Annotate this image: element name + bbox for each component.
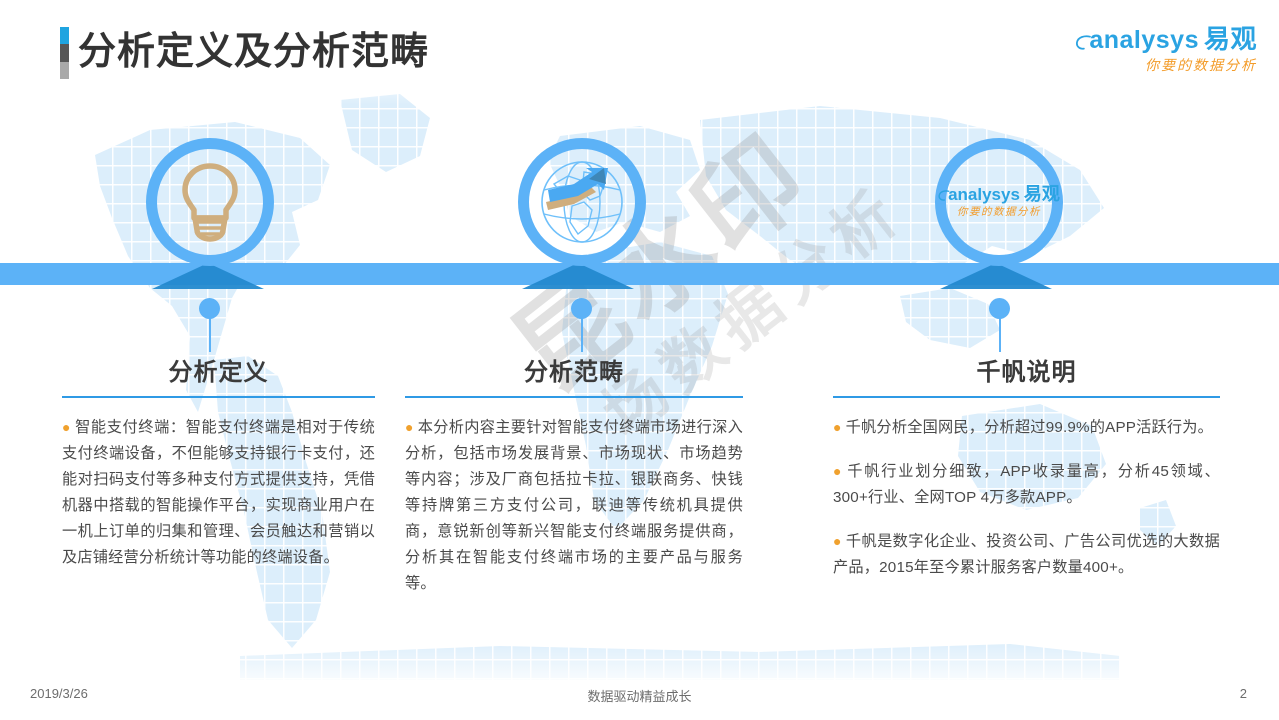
brand-name: analysys	[1089, 26, 1199, 54]
slide-root: 昆水印 场数据分析 分析定义及分析范畴 analysys易观 你要的数据分析	[0, 0, 1279, 720]
column-1-body: ●智能支付终端：智能支付终端是相对于传统支付终端设备，不但能够支持银行卡支付，还…	[62, 415, 375, 571]
column-2: 分析范畴 ●本分析内容主要针对智能支付终端市场进行深入分析，包括市场发展背景、市…	[405, 352, 743, 597]
column-1-paragraph-1: ●智能支付终端：智能支付终端是相对于传统支付终端设备，不但能够支持银行卡支付，还…	[62, 415, 375, 571]
brand-name-cn: 易观	[1204, 24, 1257, 54]
column-3: 千帆说明 ●千帆分析全国网民，分析超过99.9%的APP活跃行为。 ●千帆行业划…	[833, 352, 1220, 581]
bullet-icon: ●	[833, 463, 843, 479]
node-3-brand-tagline: 你要的数据分析	[938, 207, 1060, 218]
column-3-paragraph-1: ●千帆分析全国网民，分析超过99.9%的APP活跃行为。	[833, 415, 1220, 441]
column-3-rule	[833, 396, 1220, 398]
column-3-paragraph-2: ●千帆行业划分细致，APP收录量高，分析45领域、300+行业、全网TOP 4万…	[833, 459, 1220, 511]
bullet-icon: ●	[405, 419, 414, 435]
column-2-title: 分析范畴	[405, 352, 743, 387]
footer-page-number: 2	[1240, 686, 1247, 701]
column-3-paragraph-1-text: 千帆分析全国网民，分析超过99.9%的APP活跃行为。	[846, 419, 1213, 436]
column-1-paragraph-1-text: 智能支付终端：智能支付终端是相对于传统支付终端设备，不但能够支持银行卡支付，还能…	[62, 419, 375, 566]
node-2-ring	[518, 138, 646, 266]
node-3-brand-name: analysys	[948, 185, 1020, 204]
column-3-paragraph-3-text: 千帆是数字化企业、投资公司、广告公司优选的大数据产品，2015年至今累计服务客户…	[833, 533, 1220, 576]
footer: 2019/3/26 数据驱动精益成长 2	[0, 674, 1279, 720]
column-2-paragraph-1-text: 本分析内容主要针对智能支付终端市场进行深入分析，包括市场发展背景、市场现状、市场…	[405, 419, 743, 592]
column-1: 分析定义 ●智能支付终端：智能支付终端是相对于传统支付终端设备，不但能够支持银行…	[62, 352, 375, 571]
brand-name-row: analysys易观	[1075, 26, 1257, 53]
title-accent-bar	[60, 27, 69, 79]
bullet-icon: ●	[833, 419, 842, 435]
brand-tagline: 你要的数据分析	[1075, 58, 1257, 72]
column-2-paragraph-1: ●本分析内容主要针对智能支付终端市场进行深入分析，包括市场发展背景、市场现状、市…	[405, 415, 743, 597]
node-3-logo-row: analysys易观	[938, 185, 1060, 203]
node-1-stem	[209, 318, 211, 352]
accent-segment-dark	[60, 44, 69, 62]
column-2-rule	[405, 396, 743, 398]
column-3-body: ●千帆分析全国网民，分析超过99.9%的APP活跃行为。 ●千帆行业划分细致，A…	[833, 415, 1220, 581]
column-3-title: 千帆说明	[833, 352, 1220, 387]
page-title: 分析定义及分析范畴	[78, 22, 429, 82]
node-3-brand-name-cn: 易观	[1024, 184, 1060, 204]
footer-slogan: 数据驱动精益成长	[0, 686, 1279, 705]
node-1-ring	[146, 138, 274, 266]
column-3-paragraph-2-text: 千帆行业划分细致，APP收录量高，分析45领域、300+行业、全网TOP 4万多…	[833, 463, 1220, 506]
lightbulb-icon	[173, 160, 247, 244]
globe-arrow-icon	[534, 154, 630, 250]
column-2-body: ●本分析内容主要针对智能支付终端市场进行深入分析，包括市场发展背景、市场现状、市…	[405, 415, 743, 597]
column-1-title: 分析定义	[62, 352, 375, 387]
brand-logo: analysys易观 你要的数据分析	[1075, 26, 1257, 72]
node-1-dot	[199, 298, 220, 319]
bullet-icon: ●	[833, 533, 842, 549]
node-3-ring: analysys易观 你要的数据分析	[935, 138, 1063, 266]
column-3-paragraph-3: ●千帆是数字化企业、投资公司、广告公司优选的大数据产品，2015年至今累计服务客…	[833, 529, 1220, 581]
accent-segment-light	[60, 62, 69, 79]
node-2-stem	[581, 318, 583, 352]
column-1-rule	[62, 396, 375, 398]
bullet-icon: ●	[62, 419, 71, 435]
node-3-stem	[999, 318, 1001, 352]
accent-segment-blue	[60, 27, 69, 44]
node-2-dot	[571, 298, 592, 319]
node-3-dot	[989, 298, 1010, 319]
